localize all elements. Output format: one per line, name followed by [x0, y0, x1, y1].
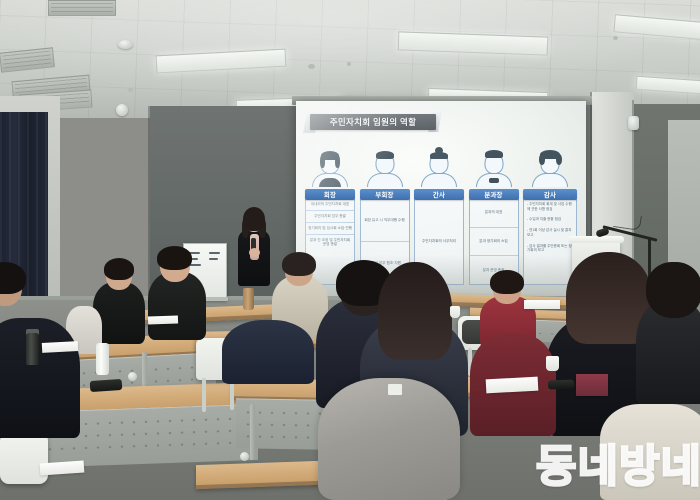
- attendee-hair: [104, 258, 134, 280]
- attendee-long-hair: [378, 262, 452, 360]
- attendee-torso: [0, 318, 80, 438]
- table-caster: [128, 372, 137, 381]
- table-leg: [250, 404, 255, 460]
- role-label-badge: 간사: [414, 189, 464, 200]
- paper-handout: [42, 341, 78, 353]
- role-label-text: 간사: [433, 190, 445, 199]
- whiteboard-writing: [189, 264, 201, 266]
- table-caster: [240, 452, 249, 461]
- white-tumbler: [96, 343, 109, 375]
- whiteboard-writing: [209, 258, 218, 260]
- jacket-tag: [388, 384, 402, 395]
- seminar-room-photo: 주민자치회 임원의 역할 회장 대내외적 주민자치회 대표: [0, 0, 700, 500]
- ceiling-speaker: [116, 104, 128, 116]
- podium-top: [568, 236, 624, 243]
- wall-seam: [148, 106, 150, 306]
- presenter-hand: [249, 248, 260, 257]
- role-label-badge: 감사: [523, 189, 577, 200]
- presenter-hair: [243, 207, 265, 231]
- role-label-badge: 분과장: [469, 189, 519, 200]
- sprinkler-head: [308, 64, 315, 69]
- smartphone: [90, 379, 123, 392]
- attendee-hair: [157, 246, 192, 270]
- paper-handout: [486, 377, 539, 394]
- attendee-hair: [646, 262, 700, 318]
- smartphone: [548, 380, 574, 390]
- attendee-hair: [282, 252, 316, 276]
- attendee-torso: [148, 272, 206, 340]
- paper-handout: [148, 315, 178, 324]
- role-label-text: 감사: [544, 190, 556, 199]
- role-label-text: 부회장: [375, 190, 393, 199]
- chair-leg: [202, 378, 206, 412]
- sprinkler-head: [128, 88, 133, 92]
- whiteboard-writing: [209, 252, 220, 254]
- thermos-flask: [26, 333, 39, 365]
- role-label-text: 회장: [324, 190, 336, 199]
- smoke-detector: [118, 40, 133, 49]
- attendee-hair: [490, 270, 524, 294]
- draped-jacket: [318, 378, 460, 500]
- sprinkler-head: [613, 36, 618, 40]
- attendee-torso: [222, 320, 314, 384]
- paper-handout: [524, 300, 560, 309]
- notebook: [576, 374, 608, 396]
- paper-cup: [450, 306, 460, 318]
- paper-cup: [546, 356, 559, 371]
- sprinkler-head: [347, 62, 351, 66]
- stacking-chair: [0, 432, 48, 484]
- role-label-badge: 회장: [305, 189, 355, 200]
- watermark: 동네방네: [536, 430, 700, 494]
- wall-sensor: [628, 116, 639, 130]
- beverage-bottle: [243, 288, 254, 310]
- ceiling-air-vent: [48, 0, 116, 16]
- role-label-badge: 부회장: [360, 189, 410, 200]
- role-label-text: 분과장: [484, 190, 502, 199]
